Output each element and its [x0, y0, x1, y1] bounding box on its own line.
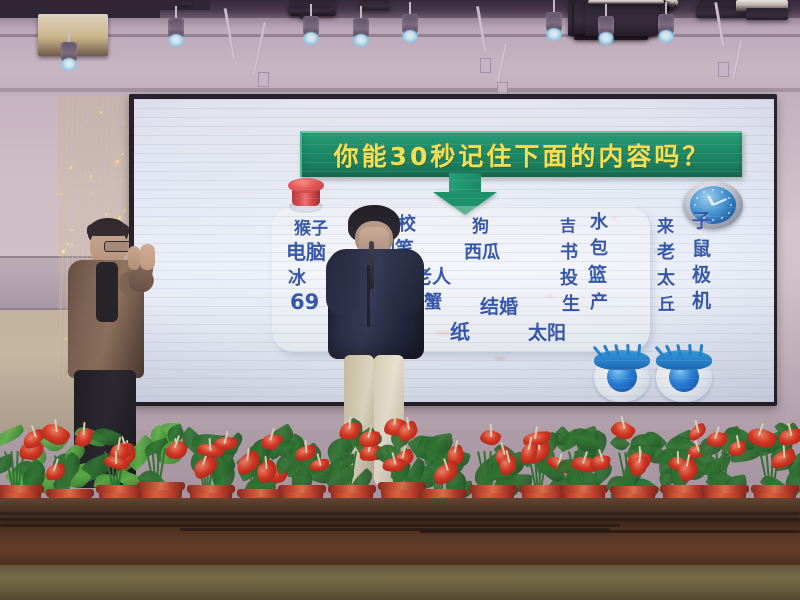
tinsel-sparkle: [122, 180, 123, 181]
spotlight-glow: [546, 28, 562, 41]
ceiling-mount-box: [480, 58, 491, 73]
tinsel-sparkle: [116, 160, 119, 163]
ceiling-box: [746, 8, 788, 20]
spotlight-glow: [168, 34, 184, 47]
ceiling-box: [360, 0, 390, 10]
flower-spadix: [782, 445, 785, 458]
flower-pot-rim: [46, 489, 94, 497]
presenter-shirt: [96, 262, 118, 322]
spotlight-glow: [402, 30, 418, 43]
presenter-hair-top: [87, 221, 129, 236]
flower-pot-rim: [751, 485, 799, 493]
stage-cable: [0, 518, 800, 521]
mic-cable: [367, 265, 370, 327]
flower-pot-rim: [701, 485, 749, 493]
flower-pot-rim: [328, 485, 376, 493]
ceiling-mount-box: [258, 72, 269, 87]
led-screen: 你能30秒记住下面的内容吗？ 猴子学校狗吉水来子电脑钢笔西瓜书包老鼠冰延老人投篮…: [134, 99, 774, 402]
flower-pot-rim: [469, 485, 517, 493]
presenter-hand-left: [128, 246, 140, 270]
spotlight-glow: [658, 30, 674, 43]
tinsel-sparkle: [92, 193, 93, 194]
flower-pot-rim: [419, 489, 467, 497]
screen-scanlines: [134, 99, 774, 402]
flower-pot-rim: [278, 485, 326, 493]
presenter-hand-right: [140, 244, 155, 270]
spotlight-glow: [61, 58, 77, 71]
flower-pot-rim: [137, 482, 185, 490]
photo-scene: 你能30秒记住下面的内容吗？ 猴子学校狗吉水来子电脑钢笔西瓜书包老鼠冰延老人投篮…: [0, 0, 800, 600]
student-arm-left: [326, 253, 360, 315]
flower-spadix: [489, 424, 492, 437]
flower-pot-rim: [610, 486, 658, 494]
spotlight-glow: [353, 34, 369, 47]
tinsel-sparkle: [124, 210, 126, 212]
ceiling-box: [180, 0, 192, 6]
ceiling-mount-box: [718, 62, 729, 77]
spotlight-glow: [303, 32, 319, 45]
stage-cable: [0, 524, 620, 527]
stage-cable: [420, 530, 800, 533]
ceiling-box: [585, 0, 657, 36]
flower-pot-rim: [187, 485, 235, 493]
stage-cable: [0, 512, 800, 515]
tinsel-sparkle: [105, 213, 108, 216]
flower-spadix: [304, 440, 307, 453]
flower-pot-rim: [560, 485, 608, 493]
floor-band: [0, 565, 800, 600]
flower-spadix: [677, 451, 679, 464]
ceiling-edge-line: [0, 88, 800, 92]
ceiling-beam-line: [0, 34, 800, 37]
ceiling-light-panel: [588, 0, 664, 4]
student-arm-right: [392, 251, 424, 313]
spotlight-glow: [598, 32, 614, 45]
flower-pot-rim: [0, 485, 44, 493]
